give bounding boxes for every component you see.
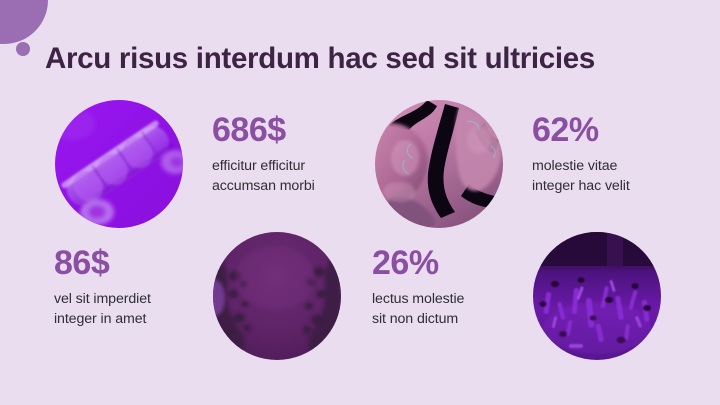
slide-canvas: Arcu risus interdum hac sed sit ultricie…: [0, 0, 720, 405]
photo-deep-purple-surface: [213, 232, 341, 360]
stat-block-2: 62% molestie vitae integer hac velit: [532, 112, 702, 196]
stat-block-3: 86$ vel sit imperdiet integer in amet: [54, 245, 224, 329]
stat-caption: lectus molestie sit non dictum: [372, 289, 542, 329]
decorative-large-circle: [0, 0, 48, 44]
pink-tissue-histology-icon: [375, 100, 503, 228]
page-title: Arcu risus interdum hac sed sit ultricie…: [45, 41, 685, 77]
photo-pink-tissue-histology: [375, 100, 503, 228]
stat-block-1: 686$ efficitur efficitur accumsan morbi: [212, 112, 382, 196]
deep-purple-surface-icon: [213, 232, 341, 360]
decorative-dot: [16, 42, 30, 56]
stat-value: 686$: [212, 112, 382, 149]
stat-caption: vel sit imperdiet integer in amet: [54, 289, 224, 329]
photo-violet-rod-microscopy: [55, 100, 183, 228]
stat-value: 26%: [372, 245, 542, 282]
stat-value: 86$: [54, 245, 224, 282]
violet-rod-microscopy-icon: [55, 100, 183, 228]
stat-value: 62%: [532, 112, 702, 149]
stat-caption: efficitur efficitur accumsan morbi: [212, 156, 382, 196]
purple-crystal-field-icon: [533, 232, 661, 360]
stat-block-4: 26% lectus molestie sit non dictum: [372, 245, 542, 329]
stat-caption: molestie vitae integer hac velit: [532, 156, 702, 196]
photo-purple-crystal-field: [533, 232, 661, 360]
